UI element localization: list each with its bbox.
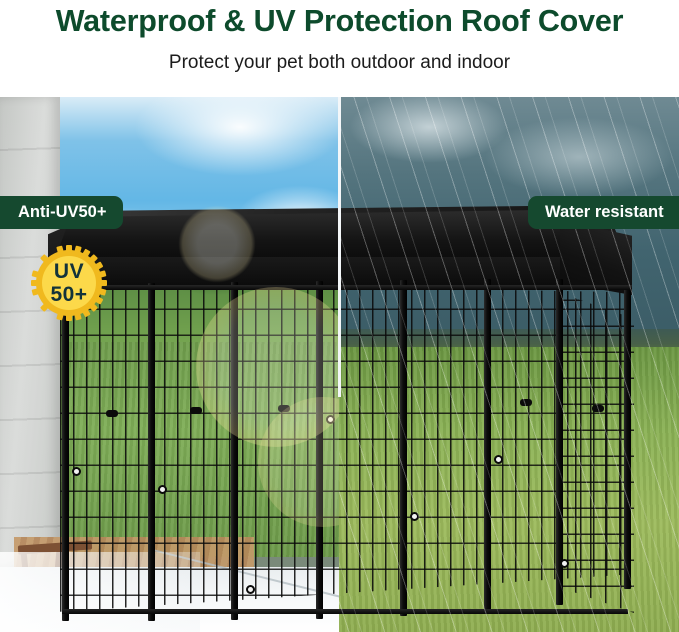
wire-mesh-panel xyxy=(560,293,634,613)
kennel-post xyxy=(148,283,155,621)
uv-seal-line1: UV xyxy=(54,261,84,282)
kennel-post xyxy=(624,289,631,589)
uv-seal-text: UV 50+ xyxy=(30,244,108,322)
kennel-post xyxy=(400,280,407,616)
kennel-top-rail xyxy=(60,285,632,290)
anti-uv-badge: Anti-UV50+ xyxy=(0,196,123,229)
kennel-latch xyxy=(494,455,503,464)
kennel-latch xyxy=(410,512,419,521)
kennel-post xyxy=(62,285,69,621)
kennel-latch xyxy=(72,467,81,476)
kennel-post xyxy=(231,282,238,620)
uv-seal-line2: 50+ xyxy=(50,284,87,305)
kennel-latch xyxy=(246,585,255,594)
wire-mesh-panel xyxy=(60,282,630,622)
product-photo: UV 50+ Anti-UV50+ Water resistant Indoor… xyxy=(0,97,679,632)
kennel-latch xyxy=(560,559,569,568)
header: Waterproof & UV Protection Roof Cover Pr… xyxy=(0,0,679,97)
kennel-latch xyxy=(158,485,167,494)
kennel-hinge xyxy=(278,405,290,412)
kennel-hinge xyxy=(190,407,202,414)
kennel-latch xyxy=(326,415,335,424)
kennel-hinge xyxy=(592,405,604,412)
kennel-post xyxy=(556,279,563,605)
uv-protection-seal-icon: UV 50+ xyxy=(30,244,108,322)
kennel-hinge xyxy=(520,399,532,406)
kennel-hinge xyxy=(106,410,118,417)
kennel-post xyxy=(316,281,323,619)
scene-divider xyxy=(338,97,341,397)
water-resistant-badge: Water resistant xyxy=(528,196,679,229)
kennel-post xyxy=(484,279,491,611)
page-subtitle: Protect your pet both outdoor and indoor xyxy=(0,37,679,72)
page-title: Waterproof & UV Protection Roof Cover xyxy=(0,0,679,37)
product-feature-image: Waterproof & UV Protection Roof Cover Pr… xyxy=(0,0,679,632)
kennel-bottom-rail xyxy=(62,609,628,614)
